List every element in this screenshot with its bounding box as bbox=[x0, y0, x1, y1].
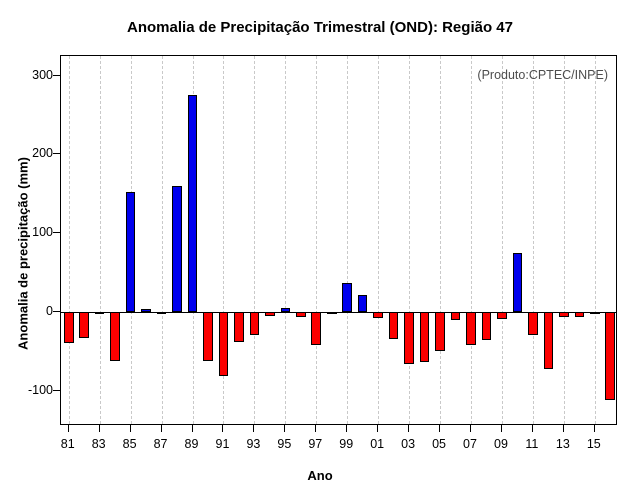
x-tick-label: 97 bbox=[308, 437, 322, 451]
bar-1985 bbox=[126, 192, 136, 312]
grid-line bbox=[69, 56, 70, 424]
grid-line bbox=[100, 56, 101, 424]
x-tick-label: 93 bbox=[246, 437, 260, 451]
grid-line bbox=[378, 56, 379, 424]
grid-line bbox=[409, 56, 410, 424]
bar-2003 bbox=[404, 312, 414, 364]
grid-line bbox=[162, 56, 163, 424]
bar-2002 bbox=[389, 312, 399, 340]
x-tick-mark bbox=[99, 425, 100, 432]
grid-line bbox=[564, 56, 565, 424]
source-annotation: (Produto:CPTEC/INPE) bbox=[477, 68, 608, 82]
x-axis-label: Ano bbox=[0, 468, 640, 483]
x-tick-mark bbox=[346, 425, 347, 432]
x-tick-mark bbox=[377, 425, 378, 432]
x-tick-label: 01 bbox=[370, 437, 384, 451]
bar-1999 bbox=[342, 283, 352, 312]
grid-line bbox=[502, 56, 503, 424]
y-tick-mark bbox=[53, 390, 60, 391]
x-tick-mark bbox=[253, 425, 254, 432]
x-tick-mark bbox=[315, 425, 316, 432]
bar-1984 bbox=[110, 312, 120, 361]
grid-line bbox=[316, 56, 317, 424]
bar-2014 bbox=[575, 312, 585, 317]
bar-1991 bbox=[219, 312, 229, 377]
bar-2015 bbox=[590, 312, 600, 314]
bar-1986 bbox=[141, 309, 151, 311]
bar-2001 bbox=[373, 312, 383, 318]
x-tick-label: 95 bbox=[277, 437, 291, 451]
y-tick-label: 200 bbox=[32, 146, 53, 160]
y-tick-mark bbox=[53, 311, 60, 312]
x-tick-mark bbox=[594, 425, 595, 432]
bar-2008 bbox=[482, 312, 492, 340]
bar-2007 bbox=[466, 312, 476, 345]
x-tick-label: 99 bbox=[339, 437, 353, 451]
y-tick-mark bbox=[53, 232, 60, 233]
x-tick-mark bbox=[192, 425, 193, 432]
x-tick-label: 05 bbox=[432, 437, 446, 451]
grid-line bbox=[440, 56, 441, 424]
plot-inner bbox=[61, 56, 616, 424]
x-tick-mark bbox=[563, 425, 564, 432]
bar-2006 bbox=[451, 312, 461, 320]
bar-1983 bbox=[95, 312, 105, 314]
plot-area: (Produto:CPTEC/INPE) bbox=[60, 55, 617, 425]
bar-2016 bbox=[605, 312, 615, 400]
x-tick-mark bbox=[501, 425, 502, 432]
x-tick-label: 89 bbox=[185, 437, 199, 451]
bar-2005 bbox=[435, 312, 445, 351]
x-tick-mark bbox=[130, 425, 131, 432]
x-tick-label: 15 bbox=[587, 437, 601, 451]
x-tick-label: 03 bbox=[401, 437, 415, 451]
x-tick-label: 07 bbox=[463, 437, 477, 451]
grid-line bbox=[533, 56, 534, 424]
bar-1996 bbox=[296, 312, 306, 317]
grid-line bbox=[471, 56, 472, 424]
y-tick-label: 0 bbox=[46, 304, 53, 318]
x-tick-mark bbox=[284, 425, 285, 432]
y-tick-label: -100 bbox=[28, 383, 53, 397]
bar-1992 bbox=[234, 312, 244, 342]
y-tick-label: 300 bbox=[32, 68, 53, 82]
chart-title: Anomalia de Precipitação Trimestral (OND… bbox=[0, 19, 640, 36]
bar-1988 bbox=[172, 186, 182, 312]
bar-2011 bbox=[528, 312, 538, 335]
x-tick-label: 09 bbox=[494, 437, 508, 451]
x-tick-label: 11 bbox=[525, 437, 538, 451]
bar-2004 bbox=[420, 312, 430, 362]
x-tick-label: 13 bbox=[556, 437, 570, 451]
bar-2000 bbox=[358, 295, 368, 312]
bar-1990 bbox=[203, 312, 213, 361]
x-tick-mark bbox=[470, 425, 471, 432]
grid-line bbox=[347, 56, 348, 424]
x-tick-label: 85 bbox=[123, 437, 137, 451]
bar-1998 bbox=[327, 312, 337, 314]
bar-2012 bbox=[544, 312, 554, 369]
x-tick-label: 87 bbox=[154, 437, 168, 451]
y-tick-label: 100 bbox=[32, 225, 53, 239]
bar-1995 bbox=[281, 308, 291, 312]
x-tick-label: 91 bbox=[216, 437, 230, 451]
bar-1994 bbox=[265, 312, 275, 316]
bar-1997 bbox=[311, 312, 321, 345]
bar-1981 bbox=[64, 312, 74, 343]
bar-2013 bbox=[559, 312, 569, 318]
x-tick-mark bbox=[408, 425, 409, 432]
grid-line bbox=[285, 56, 286, 424]
x-tick-label: 83 bbox=[92, 437, 106, 451]
x-tick-mark bbox=[222, 425, 223, 432]
x-tick-mark bbox=[439, 425, 440, 432]
x-tick-mark bbox=[68, 425, 69, 432]
x-tick-mark bbox=[161, 425, 162, 432]
bar-1989 bbox=[188, 95, 198, 311]
y-tick-mark bbox=[53, 75, 60, 76]
bar-1993 bbox=[250, 312, 260, 336]
bar-1987 bbox=[157, 312, 167, 314]
x-tick-label: 81 bbox=[61, 437, 75, 451]
grid-line bbox=[595, 56, 596, 424]
chart-container: Anomalia de Precipitação Trimestral (OND… bbox=[0, 0, 640, 500]
bar-2010 bbox=[513, 253, 523, 312]
bar-1982 bbox=[79, 312, 89, 338]
bar-2009 bbox=[497, 312, 507, 319]
x-tick-mark bbox=[532, 425, 533, 432]
y-axis-ticks: -1000100200300 bbox=[0, 0, 53, 500]
grid-line bbox=[254, 56, 255, 424]
y-tick-mark bbox=[53, 153, 60, 154]
